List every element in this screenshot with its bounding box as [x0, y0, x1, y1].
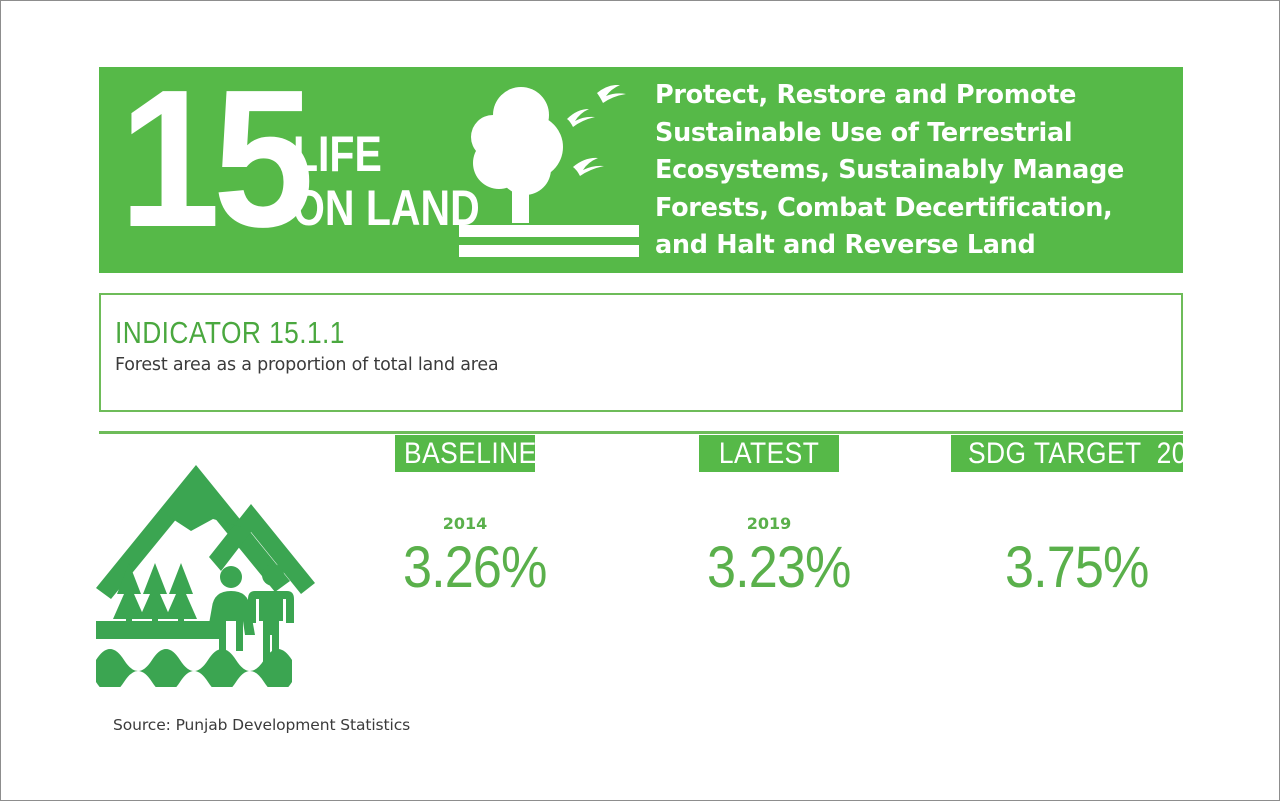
stat-label-baseline-text: BASELINE	[404, 435, 537, 472]
stat-label-baseline: BASELINE	[395, 435, 535, 472]
goal-title: LIFE ON LAND	[293, 127, 480, 235]
stat-label-sdg-target: SDG TARGET 2030	[951, 435, 1183, 472]
stat-value-baseline-text: 3.26%	[403, 539, 547, 597]
mountain-forest-people-water-icon	[93, 459, 327, 687]
goal-title-line-2: ON LAND	[293, 181, 480, 235]
stat-value-baseline: 3.26%	[395, 539, 535, 597]
goal-description-line-1: Protect, Restore and Promote	[655, 77, 1175, 115]
goal-description-line-2: Sustainable Use of Terrestrial	[655, 115, 1175, 153]
stat-label-latest-text: LATEST	[719, 435, 819, 472]
indicator-description: Forest area as a proportion of total lan…	[115, 355, 498, 375]
stat-label-sdg-target-text: SDG TARGET 2030	[968, 435, 1217, 472]
indicator-title: INDICATOR 15.1.1	[115, 315, 345, 351]
goal-description-line-3: Ecosystems, Sustainably Manage	[655, 152, 1175, 190]
tree-birds-icon	[459, 85, 639, 260]
goal-number: 15	[119, 61, 307, 257]
stat-year-baseline: 2014	[395, 514, 535, 533]
stat-value-latest-text: 3.23%	[707, 539, 851, 597]
stat-value-latest: 3.23%	[699, 539, 839, 597]
goal-description-line-5: and Halt and Reverse Land	[655, 227, 1175, 265]
stat-value-sdg-target-text: 3.75%	[1005, 539, 1149, 597]
sdg-goal-banner: 15 LIFE ON LAND	[99, 67, 1183, 273]
goal-description: Protect, Restore and Promote Sustainable…	[655, 77, 1175, 265]
section-divider	[99, 431, 1183, 434]
infographic-page: 15 LIFE ON LAND	[0, 0, 1280, 801]
stat-year-latest: 2019	[699, 514, 839, 533]
source-note: Source: Punjab Development Statistics	[113, 716, 410, 734]
indicator-box: INDICATOR 15.1.1 Forest area as a propor…	[99, 293, 1183, 412]
goal-description-line-4: Forests, Combat Decertification,	[655, 190, 1175, 228]
goal-identity-block: 15 LIFE ON LAND	[115, 67, 455, 273]
stat-value-sdg-target: 3.75%	[997, 539, 1137, 597]
stat-label-latest: LATEST	[699, 435, 839, 472]
goal-title-line-1: LIFE	[293, 127, 480, 181]
